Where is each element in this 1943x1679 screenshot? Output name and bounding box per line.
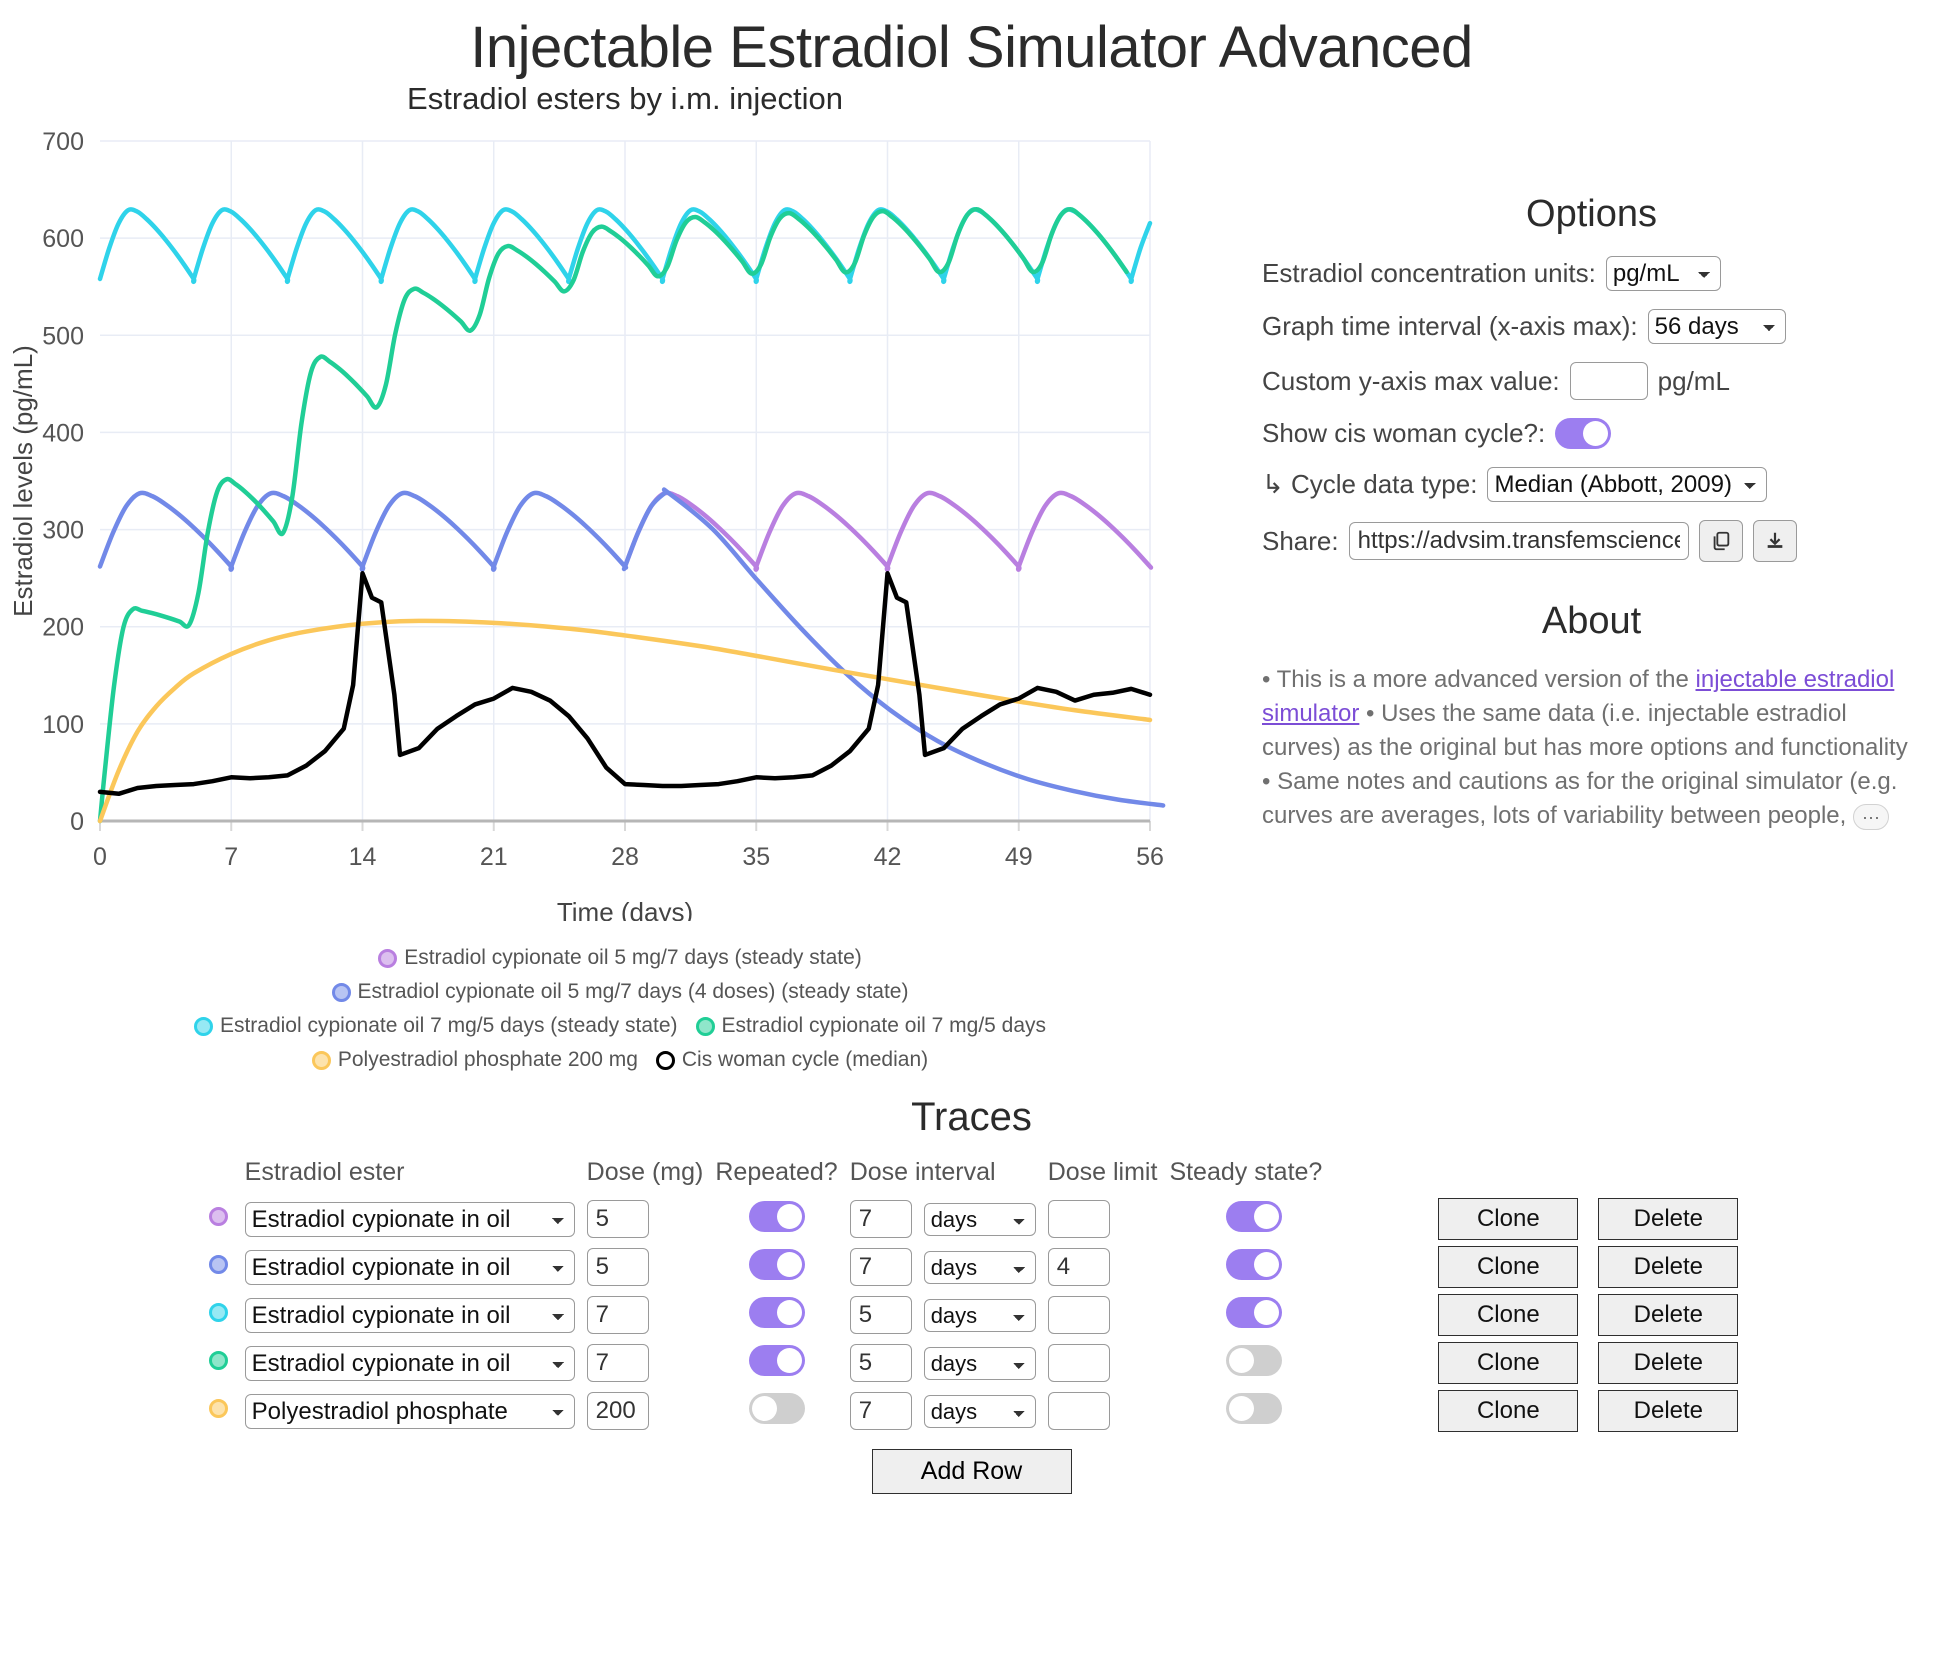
add-row-wrap: Add Row [0,1449,1943,1494]
svg-text:300: 300 [42,517,84,545]
delete-cell: Delete [1584,1339,1744,1387]
cycle-data-type-label: ↳ Cycle data type: [1262,469,1477,500]
show-cycle-row: Show cis woman cycle?: [1240,418,1943,449]
repeated-cell [709,1387,843,1435]
interval-input[interactable] [850,1296,912,1334]
trace-row: Estradiol cypionate in oilPolyestradiol … [199,1243,1745,1291]
dose-cell [581,1243,710,1291]
svg-text:0: 0 [70,808,84,836]
clone-button[interactable]: Clone [1438,1342,1578,1384]
toggle-knob [1583,421,1608,446]
trace-row: Estradiol cypionate in oilPolyestradiol … [199,1195,1745,1243]
dose-limit-input[interactable] [1048,1296,1110,1334]
dose-input[interactable] [587,1344,649,1382]
steady-state-toggle[interactable] [1226,1345,1282,1376]
interval-cell [844,1195,918,1243]
limit-cell [1042,1339,1164,1387]
dose-input[interactable] [587,1200,649,1238]
th-ester: Estradiol ester [239,1158,581,1195]
svg-text:7: 7 [224,843,238,871]
toggle-knob [777,1300,802,1325]
repeated-cell [709,1195,843,1243]
show-cycle-label: Show cis woman cycle?: [1262,418,1545,449]
interval-cell [844,1339,918,1387]
steady-cell [1163,1339,1328,1387]
show-cycle-toggle[interactable] [1555,418,1611,449]
repeated-toggle[interactable] [749,1249,805,1280]
dose-limit-input[interactable] [1048,1392,1110,1430]
about-text-part2: • Uses the same data (i.e. injectable es… [1262,700,1908,829]
svg-text:0: 0 [93,843,107,871]
svg-text:28: 28 [611,843,639,871]
toggle-knob [1229,1396,1254,1421]
dose-input[interactable] [587,1296,649,1334]
svg-text:49: 49 [1005,843,1033,871]
steady-cell [1163,1195,1328,1243]
interval-unit-select[interactable]: daysweeksmonths [924,1251,1036,1284]
dose-cell [581,1339,710,1387]
trace-color-dot [209,1207,228,1226]
ester-cell: Estradiol cypionate in oilPolyestradiol … [239,1339,581,1387]
trace-color-dot [209,1351,228,1370]
interval-unit-cell: daysweeksmonths [918,1243,1042,1291]
toggle-knob [777,1204,802,1229]
repeated-toggle[interactable] [749,1393,805,1424]
options-column: Options Estradiol concentration units: p… [1240,81,1943,833]
share-url-input[interactable] [1349,522,1689,560]
svg-text:700: 700 [42,128,84,156]
limit-cell [1042,1291,1164,1339]
repeated-cell [709,1339,843,1387]
legend-item[interactable]: Estradiol cypionate oil 7 mg/5 days [696,1009,1047,1043]
interval-cell [844,1291,918,1339]
svg-text:200: 200 [42,614,84,642]
interval-cell [844,1243,918,1291]
delete-cell: Delete [1584,1291,1744,1339]
steady-cell [1163,1243,1328,1291]
interval-unit-cell: daysweeksmonths [918,1291,1042,1339]
delete-button[interactable]: Delete [1598,1294,1738,1336]
toggle-knob [777,1252,802,1277]
th-limit: Dose limit [1042,1158,1164,1195]
svg-text:500: 500 [42,322,84,350]
ester-select[interactable]: Estradiol cypionate in oilPolyestradiol … [245,1202,575,1237]
custom-ymax-row: Custom y-axis max value: pg/mL [1240,362,1943,400]
traces-header-row: Estradiol ester Dose (mg) Repeated? Dose… [199,1158,1745,1195]
traces-section: Traces Estradiol ester Dose (mg) Repeate… [0,1095,1943,1494]
trace-color-cell [199,1339,239,1387]
delete-button[interactable]: Delete [1598,1390,1738,1432]
traces-table: Estradiol ester Dose (mg) Repeated? Dose… [199,1158,1745,1435]
ester-select[interactable]: Estradiol cypionate in oilPolyestradiol … [245,1298,575,1333]
dose-limit-input[interactable] [1048,1344,1110,1382]
svg-text:21: 21 [480,843,508,871]
legend-color-dot [656,1051,675,1070]
interval-cell [844,1387,918,1435]
legend-color-dot [194,1017,213,1036]
clone-cell: Clone [1328,1243,1584,1291]
th-repeated: Repeated? [709,1158,843,1195]
steady-cell [1163,1387,1328,1435]
delete-button[interactable]: Delete [1598,1198,1738,1240]
dose-limit-input[interactable] [1048,1248,1110,1286]
repeated-toggle[interactable] [749,1201,805,1232]
cycle-data-type-row: ↳ Cycle data type: Median (Abbott, 2009)… [1240,467,1943,502]
limit-cell [1042,1387,1164,1435]
interval-unit-select[interactable]: daysweeksmonths [924,1347,1036,1380]
page-title: Injectable Estradiol Simulator Advanced [0,14,1943,81]
legend-item[interactable]: Polyestradiol phosphate 200 mg [312,1043,638,1077]
interval-input [850,1392,912,1430]
cycle-data-type-select[interactable]: Median (Abbott, 2009)Mean (Stricker, 200… [1487,467,1767,502]
svg-text:600: 600 [42,225,84,253]
clone-button[interactable]: Clone [1438,1390,1578,1432]
delete-cell: Delete [1584,1195,1744,1243]
trace-color-cell [199,1387,239,1435]
th-delete [1584,1158,1744,1195]
clone-button[interactable]: Clone [1438,1294,1578,1336]
repeated-cell [709,1243,843,1291]
interval-input[interactable] [850,1200,912,1238]
interval-unit-select[interactable]: daysweeksmonths [924,1203,1036,1236]
trace-color-cell [199,1291,239,1339]
custom-ymax-label: Custom y-axis max value: [1262,366,1560,397]
trace-color-dot [209,1399,228,1418]
repeated-cell [709,1291,843,1339]
limit-cell [1042,1243,1164,1291]
svg-text:Estradiol levels (pg/mL): Estradiol levels (pg/mL) [8,345,38,617]
th-dose: Dose (mg) [581,1158,710,1195]
legend-color-dot [332,983,351,1002]
legend-label: Polyestradiol phosphate 200 mg [338,1043,638,1077]
interval-unit-cell: daysweeksmonths [918,1339,1042,1387]
svg-text:14: 14 [349,843,377,871]
about-heading: About [1240,600,1943,643]
legend-item[interactable]: Cis woman cycle (median) [656,1043,928,1077]
copy-icon[interactable] [1699,520,1743,562]
svg-text:Time (days): Time (days) [557,897,693,921]
custom-ymax-input[interactable] [1570,362,1648,400]
interval-unit-cell: daysweeksmonths [918,1387,1042,1435]
delete-cell: Delete [1584,1387,1744,1435]
ester-cell: Estradiol cypionate in oilPolyestradiol … [239,1243,581,1291]
legend-item[interactable]: Estradiol cypionate oil 7 mg/5 days (ste… [194,1009,678,1043]
share-label: Share: [1262,526,1339,557]
interval-unit-select: daysweeksmonths [924,1395,1036,1428]
repeated-toggle[interactable] [749,1345,805,1376]
share-row: Share: [1240,520,1943,562]
estradiol-line-chart: 01002003004005006007000714212835424956Ti… [0,121,1180,921]
svg-text:56: 56 [1136,843,1164,871]
chart-title: Estradiol esters by i.m. injection [0,81,1240,117]
dose-cell [581,1291,710,1339]
legend-color-dot [696,1017,715,1036]
about-text: • This is a more advanced version of the… [1240,663,1943,833]
th-steady: Steady state? [1163,1158,1328,1195]
toggle-knob [777,1348,802,1373]
trace-color-dot [209,1303,228,1322]
ester-select[interactable]: Estradiol cypionate in oilPolyestradiol … [245,1394,575,1429]
legend-label: Estradiol cypionate oil 7 mg/5 days (ste… [220,1009,678,1043]
clone-button[interactable]: Clone [1438,1246,1578,1288]
th-color [199,1158,239,1195]
legend-row: Estradiol cypionate oil 7 mg/5 days (ste… [30,1009,1210,1043]
clone-cell: Clone [1328,1291,1584,1339]
ester-cell: Estradiol cypionate in oilPolyestradiol … [239,1195,581,1243]
svg-text:400: 400 [42,419,84,447]
dose-input[interactable] [587,1392,649,1430]
units-label: Estradiol concentration units: [1262,258,1596,289]
time-interval-row: Graph time interval (x-axis max): 7 days… [1240,309,1943,344]
toggle-knob [1254,1204,1279,1229]
toggle-knob [752,1396,777,1421]
steady-state-toggle[interactable] [1226,1249,1282,1280]
legend-label: Estradiol cypionate oil 7 mg/5 days [722,1009,1047,1043]
traces-heading: Traces [0,1095,1943,1140]
steady-state-toggle[interactable] [1226,1201,1282,1232]
ester-select[interactable]: Estradiol cypionate in oilPolyestradiol … [245,1346,575,1381]
interval-input[interactable] [850,1344,912,1382]
steady-state-toggle[interactable] [1226,1393,1282,1424]
units-select[interactable]: pg/mLpmol/L [1606,256,1721,291]
clone-cell: Clone [1328,1195,1584,1243]
toggle-knob [1254,1300,1279,1325]
ester-cell: Estradiol cypionate in oilPolyestradiol … [239,1291,581,1339]
svg-text:100: 100 [42,711,84,739]
toggle-knob [1254,1252,1279,1277]
download-icon[interactable] [1753,520,1797,562]
custom-ymax-unit: pg/mL [1658,366,1730,397]
interval-unit-cell: daysweeksmonths [918,1195,1042,1243]
interval-input[interactable] [850,1248,912,1286]
legend-row: Polyestradiol phosphate 200 mgCis woman … [30,1043,1210,1077]
time-interval-select[interactable]: 7 days14 days28 days56 days112 days [1648,309,1786,344]
trace-color-dot [209,1255,228,1274]
traces-body: Estradiol cypionate in oilPolyestradiol … [199,1195,1745,1435]
repeated-toggle[interactable] [749,1297,805,1328]
trace-row: Estradiol cypionate in oilPolyestradiol … [199,1291,1745,1339]
trace-color-cell [199,1195,239,1243]
chart-area: 01002003004005006007000714212835424956Ti… [0,121,1240,981]
about-text-part1: • This is a more advanced version of the [1262,666,1696,693]
dose-cell [581,1195,710,1243]
legend-label: Cis woman cycle (median) [682,1043,928,1077]
toggle-knob [1229,1348,1254,1373]
delete-button[interactable]: Delete [1598,1342,1738,1384]
dose-limit-input[interactable] [1048,1200,1110,1238]
svg-text:35: 35 [742,843,770,871]
options-heading: Options [1240,193,1943,236]
clone-cell: Clone [1328,1339,1584,1387]
delete-cell: Delete [1584,1243,1744,1291]
dose-input[interactable] [587,1248,649,1286]
chart-column: Estradiol esters by i.m. injection 01002… [0,81,1240,1077]
legend-color-dot [312,1051,331,1070]
ester-select[interactable]: Estradiol cypionate in oilPolyestradiol … [245,1250,575,1285]
time-interval-label: Graph time interval (x-axis max): [1262,311,1638,342]
trace-color-cell [199,1243,239,1291]
dose-cell [581,1387,710,1435]
clone-cell: Clone [1328,1387,1584,1435]
th-interval: Dose interval [844,1158,1042,1195]
clone-button[interactable]: Clone [1438,1198,1578,1240]
page-root: Injectable Estradiol Simulator Advanced … [0,0,1943,1679]
delete-button[interactable]: Delete [1598,1246,1738,1288]
interval-unit-select[interactable]: daysweeksmonths [924,1299,1036,1332]
units-row: Estradiol concentration units: pg/mLpmol… [1240,256,1943,291]
limit-cell [1042,1195,1164,1243]
steady-state-toggle[interactable] [1226,1297,1282,1328]
svg-text:42: 42 [874,843,902,871]
main-columns: Estradiol esters by i.m. injection 01002… [0,81,1943,1077]
steady-cell [1163,1291,1328,1339]
th-clone [1328,1158,1584,1195]
add-row-button[interactable]: Add Row [872,1449,1072,1494]
trace-row: Estradiol cypionate in oilPolyestradiol … [199,1339,1745,1387]
trace-row: Estradiol cypionate in oilPolyestradiol … [199,1387,1745,1435]
about-more-button[interactable]: ··· [1853,804,1889,830]
ester-cell: Estradiol cypionate in oilPolyestradiol … [239,1387,581,1435]
